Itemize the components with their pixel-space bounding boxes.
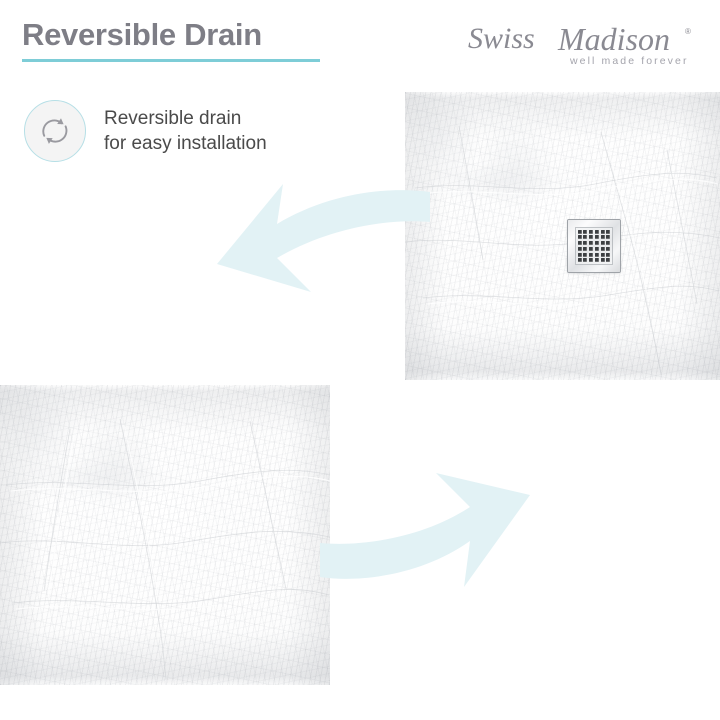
shower-base-drain-left-of-center: [405, 92, 720, 380]
flow-arrow-to-lower-left: [215, 180, 430, 315]
stone-shower-pan: [405, 92, 720, 380]
feature-line-1: Reversible drain: [104, 106, 267, 131]
marketing-banner: Reversible Drain Reversible drain for ea…: [0, 0, 720, 720]
brand-word-madison: Madison: [557, 21, 670, 57]
feature-text: Reversible drain for easy installation: [104, 106, 267, 156]
brand-tagline: well made forever: [569, 55, 689, 67]
stone-shower-pan: [0, 385, 330, 685]
page-title: Reversible Drain: [22, 18, 362, 53]
brand-logo: Swiss Madison ® well made forever: [466, 16, 698, 72]
title-underline: [22, 59, 320, 62]
registered-trademark-icon: ®: [685, 27, 691, 36]
square-chrome-drain-cover: [568, 220, 620, 272]
drain-hole-grid: [575, 227, 613, 265]
brand-word-swiss: Swiss: [468, 22, 535, 55]
headline-block: Reversible Drain: [22, 18, 362, 62]
feature-line-2: for easy installation: [104, 131, 267, 156]
reversible-arrows-icon: [24, 100, 86, 162]
flow-arrow-to-upper-right: [318, 455, 533, 600]
feature-callout: Reversible drain for easy installation: [24, 100, 267, 162]
shower-base-drain-right-of-center: [0, 385, 330, 685]
